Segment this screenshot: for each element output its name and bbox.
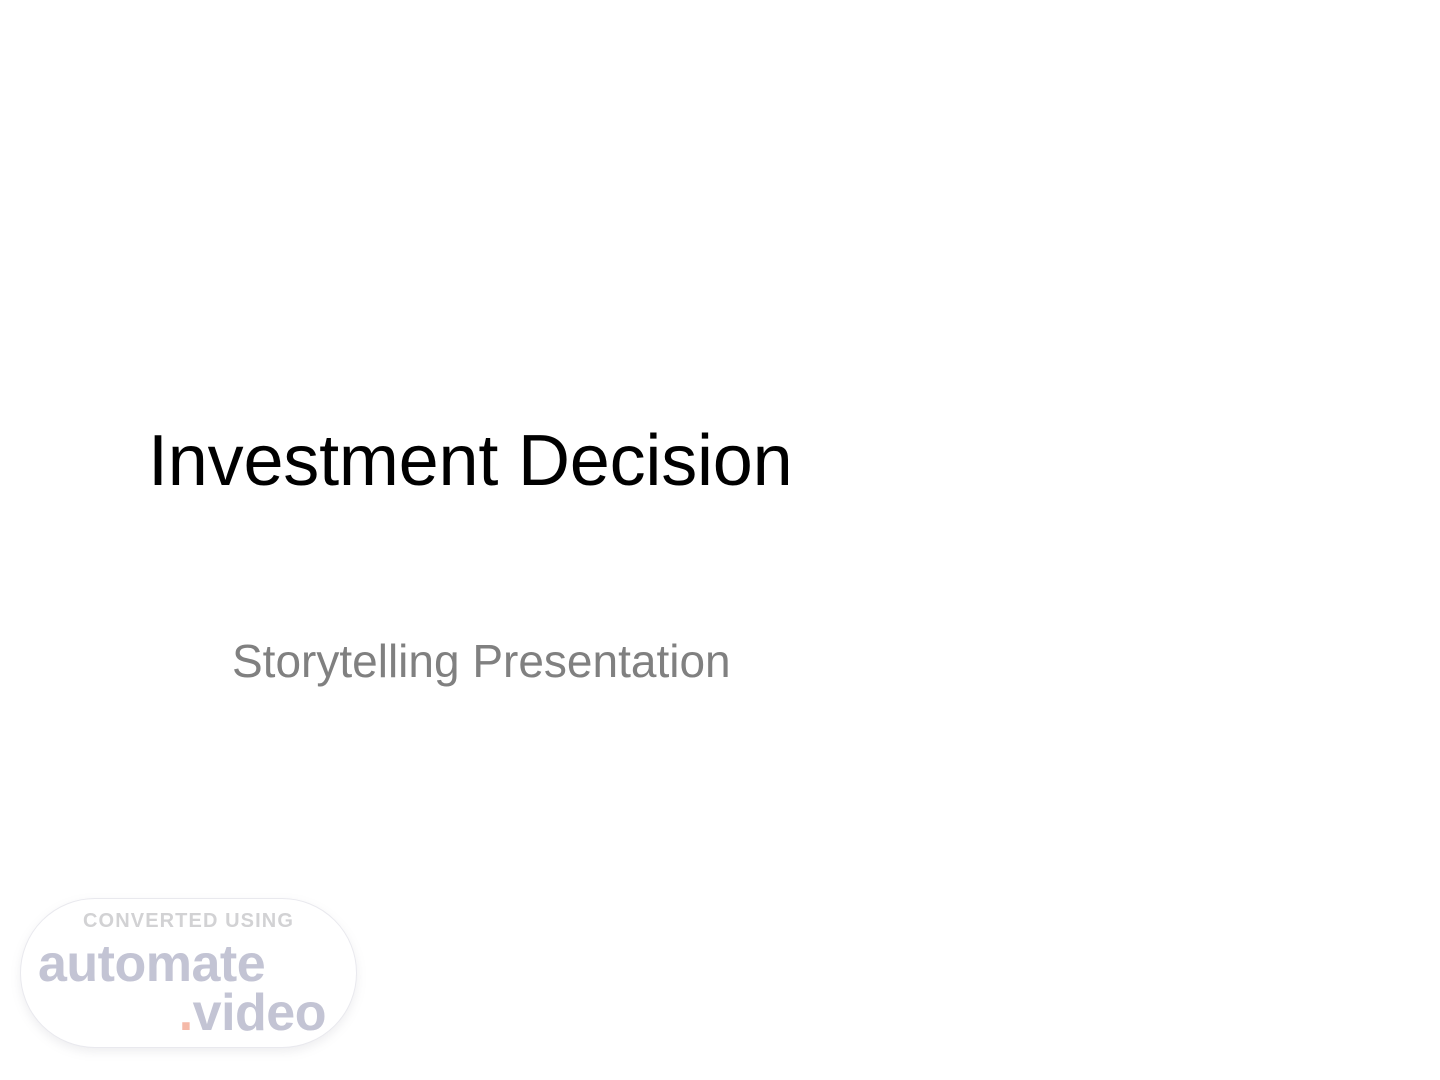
watermark-badge[interactable]: CONVERTED USING automate .video bbox=[20, 898, 357, 1048]
slide-subtitle: Storytelling Presentation bbox=[232, 630, 775, 692]
presentation-slide: Investment Decision Storytelling Present… bbox=[0, 0, 1440, 1080]
watermark-brand-video-text: video bbox=[193, 984, 326, 1042]
watermark-dot-icon: . bbox=[179, 984, 193, 1042]
watermark-brand-video: .video bbox=[179, 984, 326, 1042]
slide-subtitle-text: Storytelling Presentation bbox=[232, 630, 775, 692]
slide-title: Investment Decision bbox=[148, 418, 837, 504]
watermark-kicker: CONVERTED USING bbox=[21, 910, 356, 933]
slide-title-text: Investment Decision bbox=[148, 418, 837, 504]
